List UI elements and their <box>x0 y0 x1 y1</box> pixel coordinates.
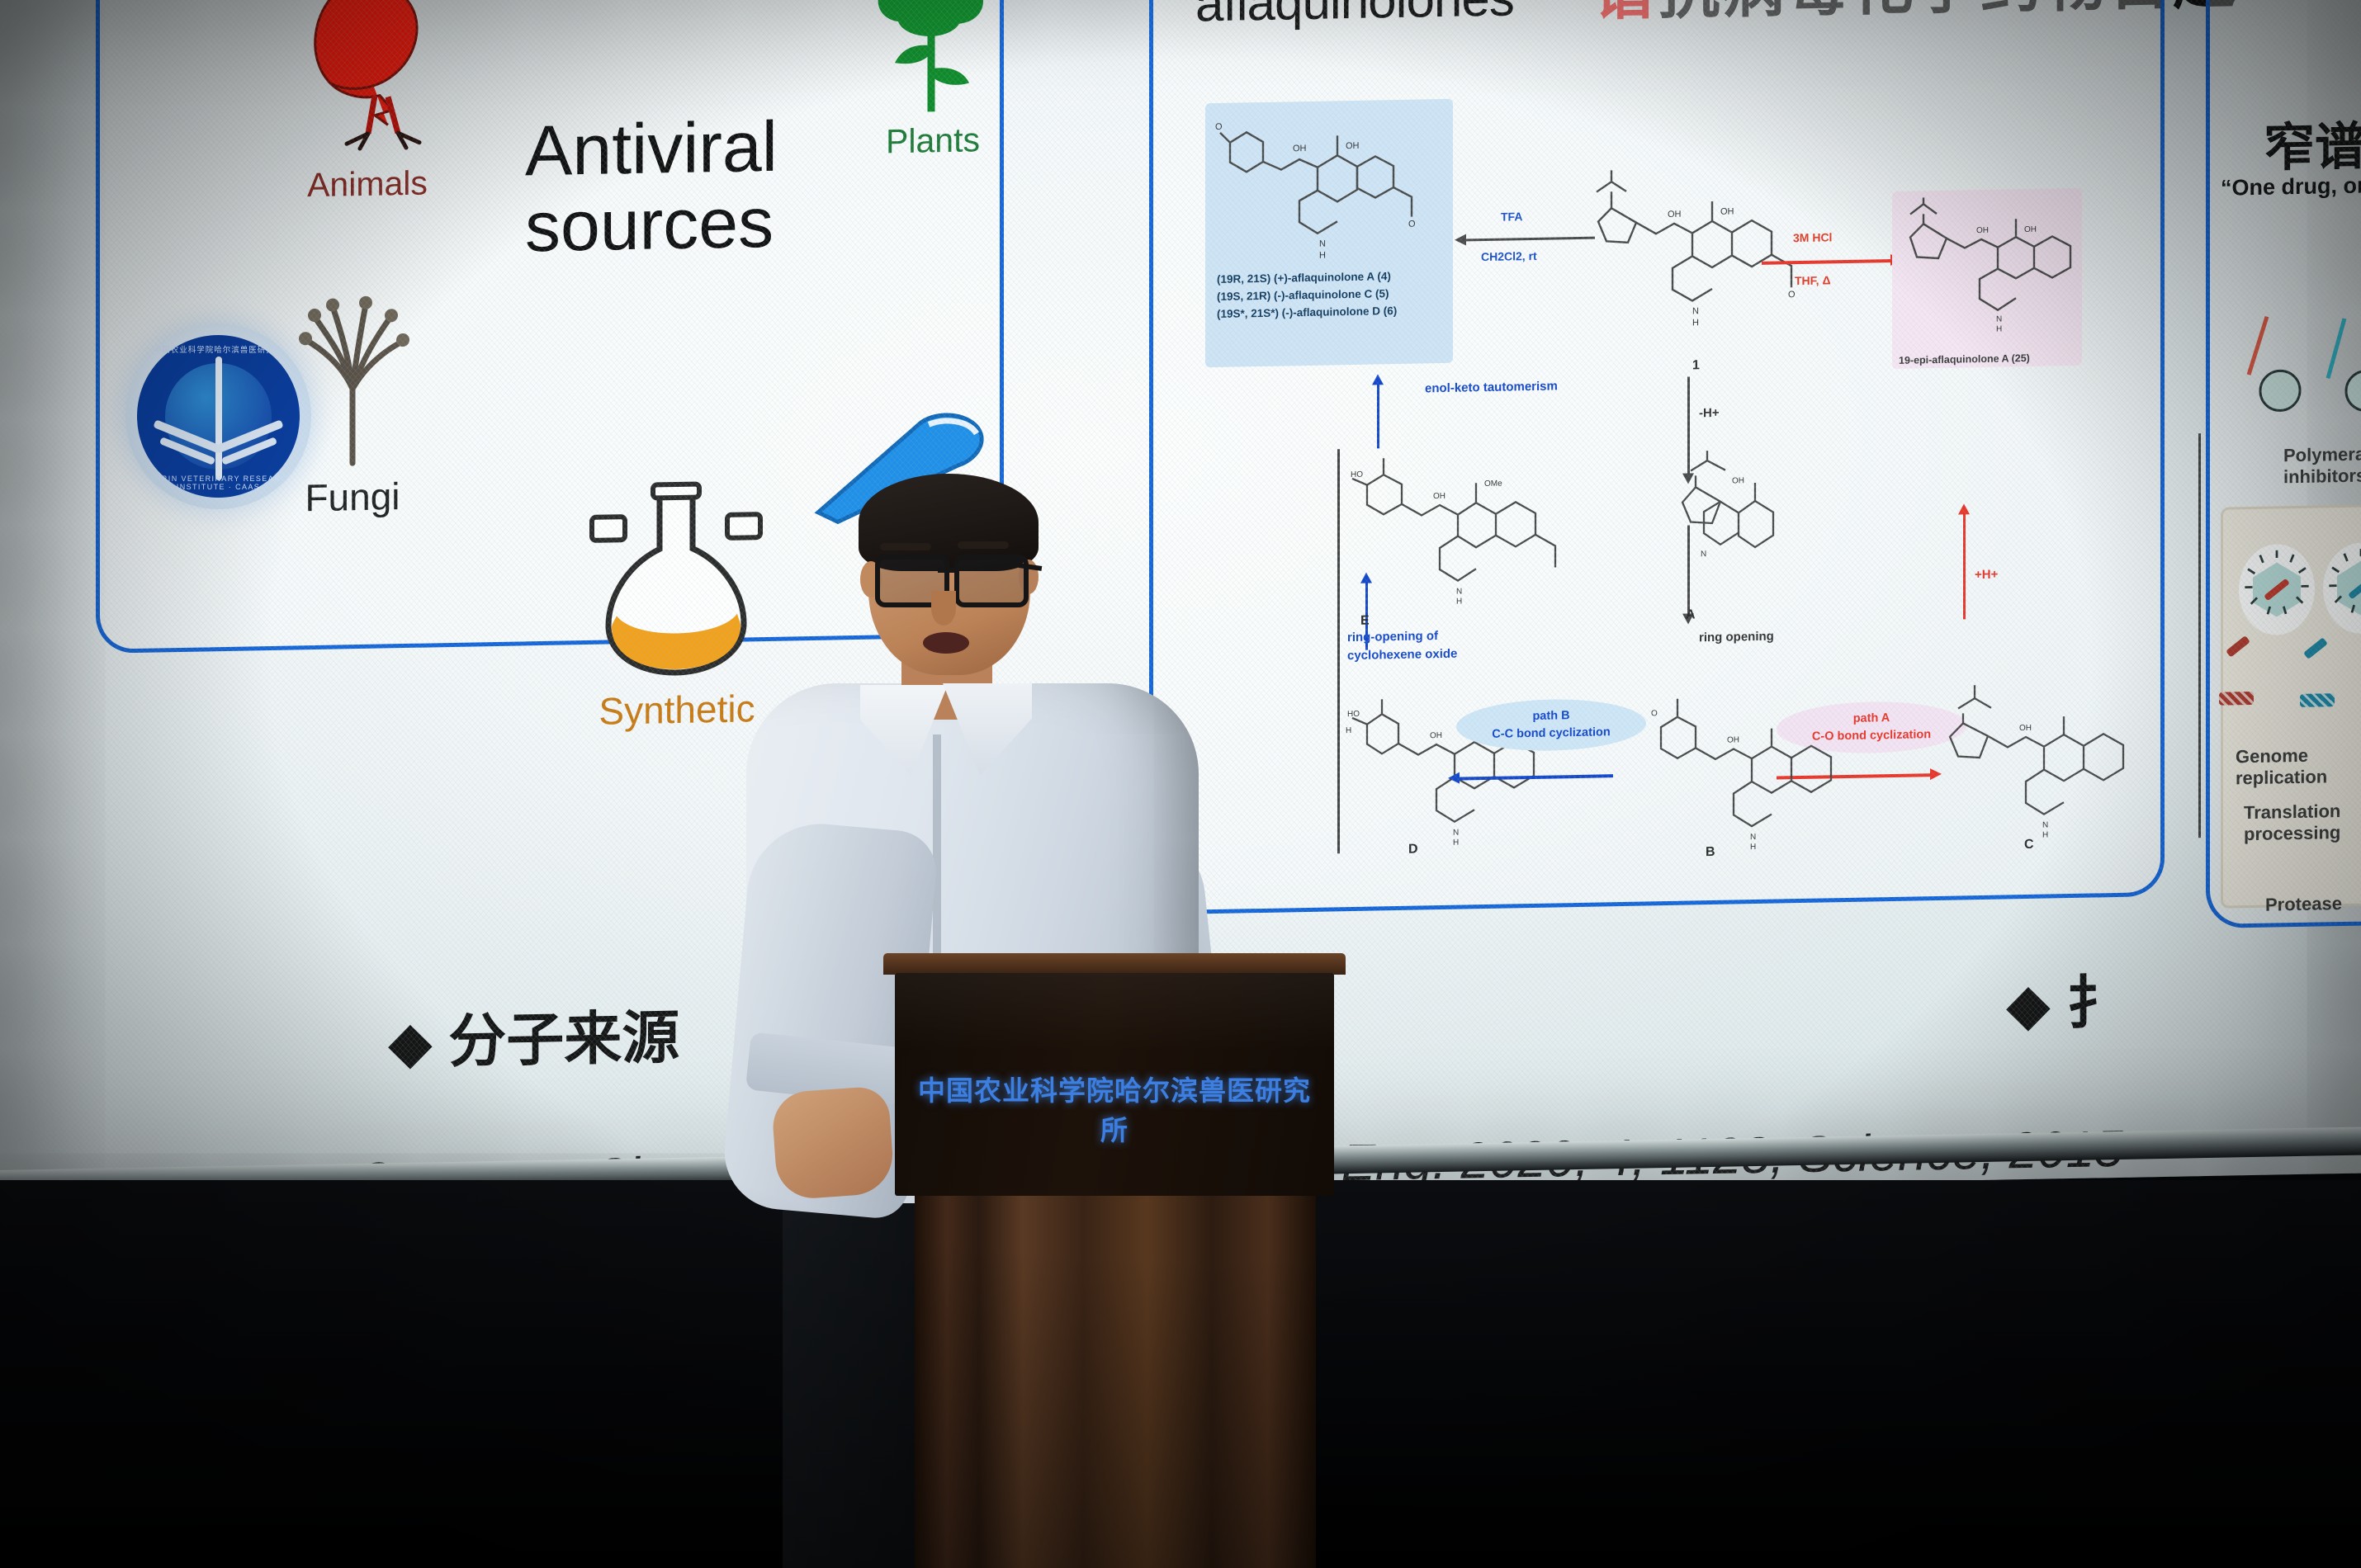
arrowhead-icon <box>1455 234 1466 245</box>
antiviral-sources-title: Antiviral sources <box>525 106 880 265</box>
svg-text:OH: OH <box>1668 210 1682 220</box>
lectern: 中国农业科学院哈尔滨兽医研究所 <box>883 953 1346 1568</box>
proton-label-plus: +H+ <box>1975 568 1998 583</box>
mechanism-label-ring-opening: ring opening <box>1699 630 1774 645</box>
eyebrow-left <box>880 543 931 550</box>
svg-text:OH: OH <box>1346 141 1360 151</box>
emblem-chinese-text: 中国农业科学院哈尔滨兽医研究所 <box>137 343 300 355</box>
svg-text:N: N <box>1996 315 2002 324</box>
svg-text:OH: OH <box>1433 492 1445 501</box>
arrow-tautomerism <box>1377 382 1379 448</box>
structure-intermediate-B: O OH N H <box>1636 687 1884 872</box>
svg-text:N: N <box>1701 550 1706 559</box>
svg-text:H: H <box>1456 597 1462 607</box>
mechanism-label-ring-opening-cyclohexene: ring-opening of cyclohexene oxide <box>1347 626 1504 665</box>
caption-protease: Protease <box>2265 893 2342 916</box>
compound-letter-E: E <box>1360 614 1370 629</box>
svg-text:N: N <box>2042 821 2048 830</box>
svg-text:H: H <box>1692 318 1699 328</box>
svg-text:H: H <box>1453 838 1459 848</box>
svg-text:H: H <box>1750 843 1756 852</box>
structure-product-C: OH N H <box>1938 682 2169 863</box>
genome-copy-blue <box>2300 693 2335 707</box>
genome-copy-red <box>2219 692 2254 706</box>
institution-emblem: 中国农业科学院哈尔滨兽医研究所 HARBIN VETERINARY RESEAR… <box>125 324 311 509</box>
arrowhead-icon <box>1958 503 1970 514</box>
structure-intermediate-A: OH N <box>1542 449 1806 627</box>
mouth <box>923 632 969 654</box>
lectern-top-surface <box>883 953 1346 975</box>
bullet-molecular-source: ◆ 分子来源 <box>388 991 679 1079</box>
plant-icon <box>859 0 1007 120</box>
svg-text:HO: HO <box>1347 710 1360 719</box>
svg-text:N: N <box>1750 833 1756 842</box>
compound-letter-A: A <box>1686 607 1696 622</box>
svg-text:H: H <box>1996 325 2002 334</box>
inhibitor-arrows-icon <box>2229 254 2361 425</box>
svg-text:N: N <box>1692 306 1699 316</box>
svg-text:OH: OH <box>1732 476 1744 485</box>
rooster-icon <box>289 0 446 163</box>
caption-translation-processing: Translation processing <box>2244 801 2361 846</box>
arrow-protonation <box>1963 512 1966 619</box>
right-hand <box>771 1085 896 1201</box>
svg-text:OH: OH <box>1293 144 1307 153</box>
reagent-label-tfa-top: TFA <box>1501 208 1522 225</box>
bullet-right: ◆ 扌 <box>2006 956 2124 1042</box>
svg-text:H: H <box>1346 726 1351 735</box>
source-item-plants: Plants <box>842 0 1024 162</box>
source-label-animals: Animals <box>272 163 462 205</box>
reagent-label-hcl-bottom: THF, Δ <box>1795 272 1831 290</box>
reagent-label-tfa-bottom: CH2Cl2, rt <box>1481 248 1537 266</box>
narrow-spectrum-title: 窄谱 <box>2264 101 2361 181</box>
lectern-body <box>915 1196 1316 1568</box>
spikes-icon <box>2323 542 2361 620</box>
svg-text:O: O <box>1651 709 1658 718</box>
reagent-label-hcl-top: 3M HCl <box>1793 229 1832 247</box>
arrowhead-icon <box>1448 772 1460 784</box>
eyeglasses-right-lens <box>954 555 1029 607</box>
mechanism-label-tautomerism: enol-keto tautomerism <box>1425 377 1558 398</box>
svg-text:O: O <box>1788 290 1796 300</box>
aflaquinolones-title: aflaquinolones <box>1195 0 1514 33</box>
svg-text:OH: OH <box>1976 226 1989 235</box>
spikes-icon <box>2239 544 2315 621</box>
path-b-detail: C-C bond cyclization <box>1473 724 1630 744</box>
aflaquinolone-compound-list: (19R, 21S) (+)-aflaquinolone A (4) (19S,… <box>1217 267 1456 324</box>
source-item-animals: Animals <box>272 0 462 205</box>
structure-epi-aflaquinolone: OH OH N H <box>1899 195 2076 355</box>
source-label-plants: Plants <box>842 120 1024 162</box>
proton-label-minus: -H+ <box>1699 406 1720 420</box>
lectern-institution-text: 中国农业科学院哈尔滨兽医研究所 <box>905 1069 1324 1148</box>
caption-genome-replication: Genome replication <box>2236 744 2361 790</box>
svg-text:H: H <box>2042 831 2048 840</box>
svg-text:OH: OH <box>2019 724 2032 733</box>
eyeglasses-bridge <box>938 568 959 573</box>
svg-text:OH: OH <box>1727 735 1739 744</box>
svg-text:OMe: OMe <box>1484 479 1502 489</box>
svg-text:H: H <box>1319 251 1326 261</box>
svg-text:OH: OH <box>1430 731 1442 740</box>
arrowhead-icon <box>1372 374 1384 385</box>
compound-letter-start: 1 <box>1692 358 1700 373</box>
structure-starting-material: OH OH N H O <box>1582 166 1829 352</box>
nose <box>931 591 956 626</box>
emblem-english-text: HARBIN VETERINARY RESEARCH INSTITUTE · C… <box>137 475 300 491</box>
structure-aflaquinolone-product: OH OH N H O O <box>1214 109 1453 278</box>
svg-text:OH: OH <box>2024 225 2037 234</box>
svg-text:N: N <box>1453 829 1459 838</box>
emblem-ring: 中国农业科学院哈尔滨兽医研究所 HARBIN VETERINARY RESEAR… <box>137 335 300 498</box>
compound-letter-D: D <box>1408 843 1418 857</box>
svg-text:N: N <box>1319 239 1326 249</box>
svg-text:N: N <box>1456 588 1462 597</box>
svg-text:O: O <box>1215 122 1223 132</box>
svg-text:HO: HO <box>1351 470 1363 479</box>
caption-polymerase-inhibitors: Polymerase inhibitors <box>2283 443 2361 488</box>
eyebrow-right <box>958 541 1009 549</box>
compound-letter-B: B <box>1706 845 1715 860</box>
svg-text:OH: OH <box>1720 207 1734 217</box>
presentation-photo: 谱抗病毒化学药物日趋 Antiviral sources Animals Pla… <box>0 0 2361 1568</box>
svg-text:O: O <box>1408 220 1416 229</box>
emblem-caduceus-icon <box>215 357 222 480</box>
compound-letter-C: C <box>2024 838 2034 852</box>
